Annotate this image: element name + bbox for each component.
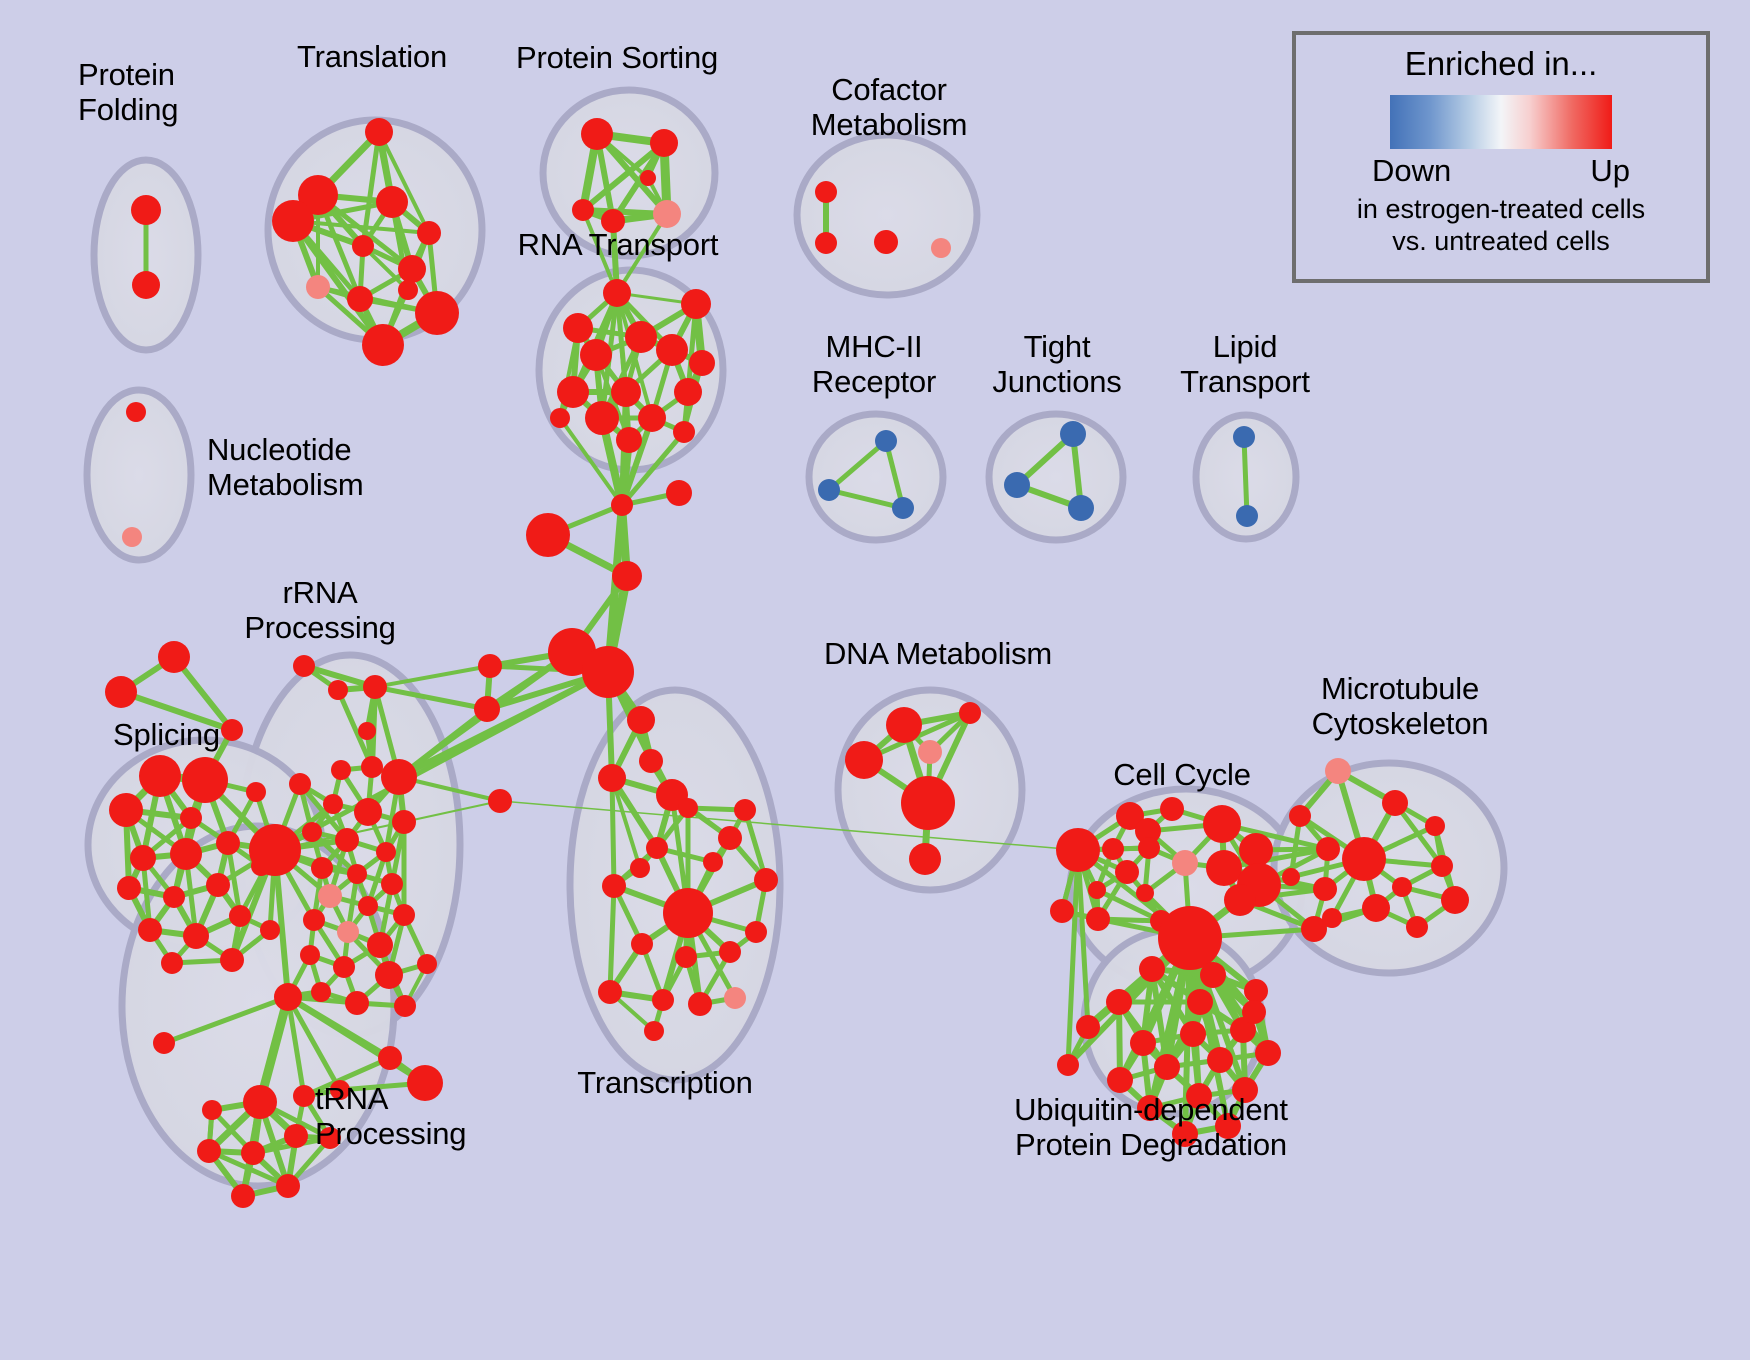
network-node[interactable] — [1088, 881, 1106, 899]
network-node[interactable] — [306, 275, 330, 299]
network-node[interactable] — [909, 843, 941, 875]
network-node[interactable] — [1154, 1054, 1180, 1080]
network-node[interactable] — [724, 987, 746, 1009]
network-node[interactable] — [1441, 886, 1469, 914]
network-node[interactable] — [689, 350, 715, 376]
network-node[interactable] — [393, 904, 415, 926]
cluster-label-rrna-processing: rRNA Processing — [244, 576, 395, 645]
legend-endpoint-labels: Down Up — [1372, 153, 1630, 189]
network-node[interactable] — [375, 961, 403, 989]
network-node[interactable] — [892, 497, 914, 519]
network-node[interactable] — [598, 980, 622, 1004]
network-node[interactable] — [557, 376, 589, 408]
network-diagram-canvas: Protein FoldingTranslationProtein Sortin… — [0, 0, 1750, 1360]
network-node[interactable] — [688, 992, 712, 1016]
network-node[interactable] — [598, 764, 626, 792]
network-node[interactable] — [182, 757, 228, 803]
network-node[interactable] — [354, 798, 382, 826]
network-node[interactable] — [358, 896, 378, 916]
network-node[interactable] — [734, 799, 756, 821]
network-node[interactable] — [376, 842, 396, 862]
network-node[interactable] — [652, 989, 674, 1011]
network-node[interactable] — [1289, 805, 1311, 827]
network-node[interactable] — [220, 948, 244, 972]
network-node[interactable] — [646, 837, 668, 859]
network-node[interactable] — [1362, 894, 1390, 922]
network-node[interactable] — [381, 873, 403, 895]
network-node[interactable] — [582, 646, 634, 698]
network-node[interactable] — [335, 828, 359, 852]
legend-low-label: Down — [1372, 153, 1451, 189]
network-node[interactable] — [276, 1174, 300, 1198]
network-node[interactable] — [653, 200, 681, 228]
network-node[interactable] — [581, 118, 613, 150]
network-node[interactable] — [585, 401, 619, 435]
network-node[interactable] — [818, 479, 840, 501]
network-node[interactable] — [117, 876, 141, 900]
network-node[interactable] — [347, 286, 373, 312]
network-node[interactable] — [1068, 495, 1094, 521]
network-node[interactable] — [663, 888, 713, 938]
network-node[interactable] — [246, 782, 266, 802]
network-node[interactable] — [959, 702, 981, 724]
cluster-label-trna-processing: tRNA Processing — [315, 1082, 466, 1151]
network-node[interactable] — [1160, 797, 1184, 821]
network-node[interactable] — [644, 1021, 664, 1041]
network-node[interactable] — [1060, 421, 1086, 447]
cluster-hull-mhc-ii-receptor — [809, 414, 943, 540]
network-node[interactable] — [1107, 1067, 1133, 1093]
network-node[interactable] — [153, 1032, 175, 1054]
network-node[interactable] — [1233, 426, 1255, 448]
network-node[interactable] — [398, 280, 418, 300]
network-node[interactable] — [931, 238, 951, 258]
network-node[interactable] — [474, 696, 500, 722]
network-node[interactable] — [302, 822, 322, 842]
network-node[interactable] — [1172, 850, 1198, 876]
network-node[interactable] — [1004, 472, 1030, 498]
network-node[interactable] — [901, 776, 955, 830]
network-node[interactable] — [1382, 790, 1408, 816]
network-node[interactable] — [650, 129, 678, 157]
network-node[interactable] — [1102, 838, 1124, 860]
network-node[interactable] — [241, 1141, 265, 1165]
cluster-label-ubiquitin-protein-degradation: Ubiquitin-dependent Protein Degradation — [1014, 1093, 1288, 1162]
network-node[interactable] — [674, 378, 702, 406]
cluster-label-protein-sorting: Protein Sorting — [516, 41, 718, 76]
cluster-label-protein-folding: Protein Folding — [78, 58, 178, 127]
cluster-label-nucleotide-metabolism: Nucleotide Metabolism — [207, 433, 364, 502]
legend-color-gradient-bar — [1390, 95, 1612, 149]
network-node[interactable] — [331, 760, 351, 780]
network-node[interactable] — [367, 932, 393, 958]
network-node[interactable] — [358, 722, 376, 740]
network-node[interactable] — [656, 334, 688, 366]
network-node[interactable] — [675, 946, 697, 968]
network-node[interactable] — [580, 339, 612, 371]
network-node[interactable] — [1076, 1015, 1100, 1039]
network-node[interactable] — [381, 759, 417, 795]
network-node[interactable] — [1106, 989, 1132, 1015]
network-node[interactable] — [352, 235, 374, 257]
network-node[interactable] — [132, 271, 160, 299]
network-node[interactable] — [1207, 1047, 1233, 1073]
network-node[interactable] — [1115, 860, 1139, 884]
network-node[interactable] — [918, 740, 942, 764]
cluster-label-splicing: Splicing — [113, 718, 220, 753]
network-node[interactable] — [1282, 868, 1300, 886]
network-node[interactable] — [718, 826, 742, 850]
network-node[interactable] — [1431, 855, 1453, 877]
network-node[interactable] — [345, 991, 369, 1015]
network-node[interactable] — [1206, 850, 1242, 886]
network-node[interactable] — [1322, 908, 1342, 928]
network-node[interactable] — [1392, 877, 1412, 897]
cluster-label-rna-transport: RNA Transport — [518, 228, 719, 263]
network-node[interactable] — [221, 719, 243, 741]
legend-panel: Enriched in... Down Up in estrogen-treat… — [1292, 31, 1710, 283]
network-node[interactable] — [1406, 916, 1428, 938]
network-node[interactable] — [318, 884, 342, 908]
network-node[interactable] — [170, 838, 202, 870]
network-node[interactable] — [1130, 1030, 1156, 1056]
network-node[interactable] — [572, 199, 594, 221]
cluster-label-translation: Translation — [297, 40, 447, 75]
network-node[interactable] — [323, 794, 343, 814]
network-node[interactable] — [197, 1139, 221, 1163]
network-node[interactable] — [105, 676, 137, 708]
network-node[interactable] — [363, 675, 387, 699]
legend-subtitle-line1: in estrogen-treated cells — [1357, 193, 1645, 225]
network-node[interactable] — [378, 1046, 402, 1070]
network-node[interactable] — [229, 905, 251, 927]
network-node[interactable] — [488, 789, 512, 813]
network-node[interactable] — [126, 402, 146, 422]
network-node[interactable] — [131, 195, 161, 225]
network-node[interactable] — [362, 324, 404, 366]
cluster-label-transcription: Transcription — [577, 1066, 752, 1101]
network-node[interactable] — [1086, 907, 1110, 931]
network-node[interactable] — [1136, 884, 1154, 902]
network-node[interactable] — [138, 918, 162, 942]
network-node[interactable] — [625, 321, 657, 353]
cluster-label-tight-junctions: Tight Junctions — [992, 330, 1121, 399]
network-node[interactable] — [616, 427, 642, 453]
network-node[interactable] — [300, 945, 320, 965]
network-node[interactable] — [1056, 828, 1100, 872]
cluster-label-lipid-transport: Lipid Transport — [1180, 330, 1310, 399]
network-node[interactable] — [415, 291, 459, 335]
network-node[interactable] — [202, 1100, 222, 1120]
network-node[interactable] — [272, 200, 314, 242]
network-node[interactable] — [289, 773, 311, 795]
legend-title: Enriched in... — [1405, 45, 1598, 83]
network-node[interactable] — [163, 886, 185, 908]
network-node[interactable] — [311, 982, 331, 1002]
network-node[interactable] — [845, 741, 883, 779]
network-node[interactable] — [398, 255, 426, 283]
network-node[interactable] — [231, 1184, 255, 1208]
network-node[interactable] — [1180, 1021, 1206, 1047]
network-node[interactable] — [612, 561, 642, 591]
cluster-label-dna-metabolism: DNA Metabolism — [824, 637, 1052, 672]
network-node[interactable] — [130, 845, 156, 871]
network-node[interactable] — [1187, 989, 1213, 1015]
network-node[interactable] — [216, 831, 240, 855]
network-node[interactable] — [754, 868, 778, 892]
network-node[interactable] — [361, 756, 383, 778]
network-node[interactable] — [243, 1085, 277, 1119]
network-node[interactable] — [158, 641, 190, 673]
network-node[interactable] — [394, 995, 416, 1017]
network-node[interactable] — [1244, 979, 1268, 1003]
network-node[interactable] — [328, 680, 348, 700]
cluster-label-mhc-ii-receptor: MHC-II Receptor — [812, 330, 936, 399]
network-node[interactable] — [703, 852, 723, 872]
network-node[interactable] — [1316, 837, 1340, 861]
network-node[interactable] — [1342, 837, 1386, 881]
network-node[interactable] — [392, 810, 416, 834]
legend-high-label: Up — [1590, 153, 1630, 189]
network-node[interactable] — [1325, 758, 1351, 784]
network-node[interactable] — [1139, 956, 1165, 982]
network-node[interactable] — [260, 920, 280, 940]
network-node[interactable] — [1050, 899, 1074, 923]
network-node[interactable] — [161, 952, 183, 974]
network-node[interactable] — [630, 858, 650, 878]
network-node[interactable] — [1425, 816, 1445, 836]
network-node[interactable] — [1242, 1000, 1266, 1024]
network-node[interactable] — [563, 313, 593, 343]
network-node[interactable] — [376, 186, 408, 218]
network-node[interactable] — [417, 221, 441, 245]
network-node[interactable] — [284, 1124, 308, 1148]
network-node[interactable] — [333, 956, 355, 978]
network-node[interactable] — [122, 527, 142, 547]
network-node[interactable] — [673, 421, 695, 443]
network-node[interactable] — [337, 921, 359, 943]
network-node[interactable] — [745, 921, 767, 943]
network-node[interactable] — [611, 377, 641, 407]
network-node[interactable] — [293, 1085, 315, 1107]
network-node[interactable] — [681, 289, 711, 319]
network-node[interactable] — [602, 874, 626, 898]
network-node[interactable] — [478, 654, 502, 678]
network-node[interactable] — [874, 230, 898, 254]
network-node[interactable] — [678, 798, 698, 818]
network-node[interactable] — [719, 941, 741, 963]
legend-subtitle-line2: vs. untreated cells — [1357, 225, 1645, 257]
network-node[interactable] — [1313, 877, 1337, 901]
network-node[interactable] — [109, 793, 143, 827]
network-node[interactable] — [417, 954, 437, 974]
edge — [612, 778, 614, 886]
network-node[interactable] — [627, 706, 655, 734]
network-node[interactable] — [1255, 1040, 1281, 1066]
network-node[interactable] — [640, 170, 656, 186]
network-node[interactable] — [666, 480, 692, 506]
cluster-label-cofactor-metabolism: Cofactor Metabolism — [811, 73, 968, 142]
network-node[interactable] — [293, 655, 315, 677]
network-node[interactable] — [183, 923, 209, 949]
network-node[interactable] — [1200, 962, 1226, 988]
network-node[interactable] — [1057, 1054, 1079, 1076]
network-node[interactable] — [139, 755, 181, 797]
network-node[interactable] — [638, 404, 666, 432]
network-node[interactable] — [180, 807, 202, 829]
network-node[interactable] — [206, 873, 230, 897]
network-node[interactable] — [639, 749, 663, 773]
network-node[interactable] — [815, 181, 837, 203]
network-node[interactable] — [1158, 906, 1222, 970]
cluster-label-microtubule-cytoskeleton: Microtubule Cytoskeleton — [1312, 672, 1489, 741]
network-node[interactable] — [1203, 805, 1241, 843]
network-node[interactable] — [611, 494, 633, 516]
network-node[interactable] — [249, 824, 301, 876]
network-node[interactable] — [1236, 505, 1258, 527]
network-node[interactable] — [303, 909, 325, 931]
network-node[interactable] — [274, 983, 302, 1011]
edge — [1244, 437, 1247, 516]
network-node[interactable] — [815, 232, 837, 254]
network-node[interactable] — [311, 857, 333, 879]
legend-subtitle: in estrogen-treated cells vs. untreated … — [1357, 193, 1645, 258]
network-node[interactable] — [365, 118, 393, 146]
cluster-label-cell-cycle: Cell Cycle — [1113, 758, 1251, 793]
network-node[interactable] — [886, 707, 922, 743]
network-node[interactable] — [347, 864, 367, 884]
network-node[interactable] — [1138, 837, 1160, 859]
network-node[interactable] — [875, 430, 897, 452]
network-node[interactable] — [603, 279, 631, 307]
network-node[interactable] — [1224, 884, 1256, 916]
network-node[interactable] — [631, 933, 653, 955]
network-node[interactable] — [1239, 833, 1273, 867]
network-node[interactable] — [526, 513, 570, 557]
network-node[interactable] — [550, 408, 570, 428]
